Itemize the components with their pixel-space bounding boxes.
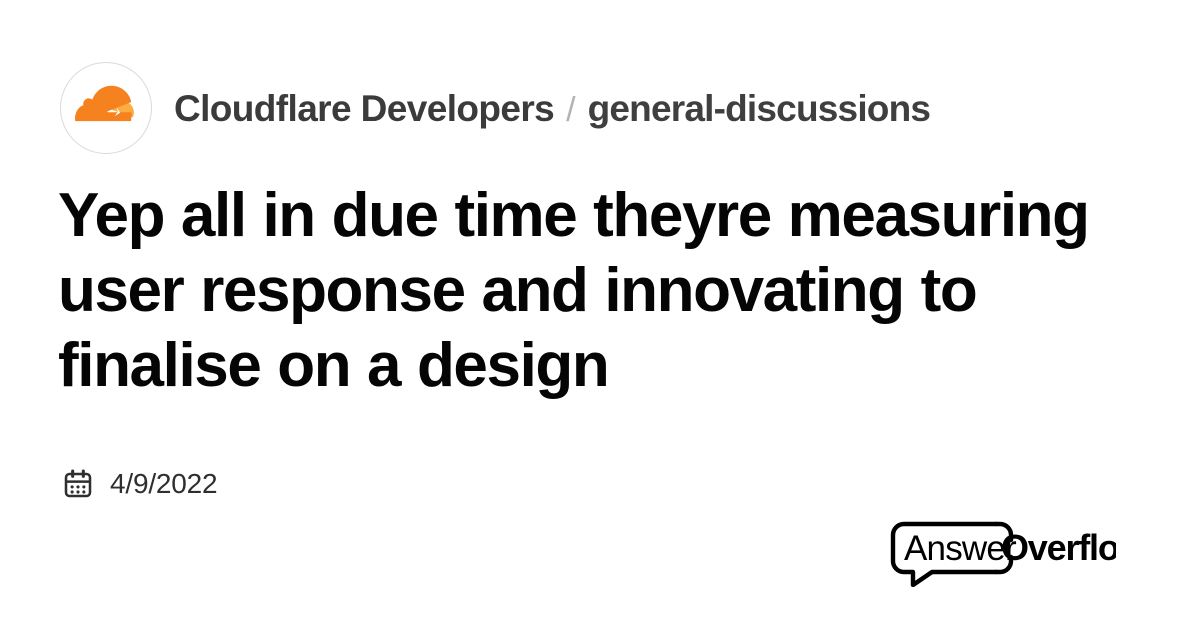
server-name[interactable]: Cloudflare Developers bbox=[174, 90, 554, 127]
calendar-icon bbox=[62, 468, 94, 500]
share-card: Cloudflare Developers / general-discussi… bbox=[0, 0, 1200, 630]
answer-overflow-logo-icon[interactable]: Answer Overflow bbox=[888, 519, 1116, 587]
breadcrumb: Cloudflare Developers / general-discussi… bbox=[60, 62, 930, 154]
post-date: 4/9/2022 bbox=[110, 470, 217, 498]
cloudflare-logo-icon bbox=[75, 85, 137, 131]
page-title: Yep all in due time theyre measuring use… bbox=[58, 178, 1148, 403]
answer-overflow-word-overflow: Overflow bbox=[1001, 527, 1116, 568]
channel-name[interactable]: general-discussions bbox=[588, 90, 931, 127]
breadcrumb-text: Cloudflare Developers / general-discussi… bbox=[174, 90, 930, 127]
breadcrumb-separator: / bbox=[566, 93, 575, 127]
avatar bbox=[60, 62, 152, 154]
date-meta: 4/9/2022 bbox=[62, 468, 217, 500]
